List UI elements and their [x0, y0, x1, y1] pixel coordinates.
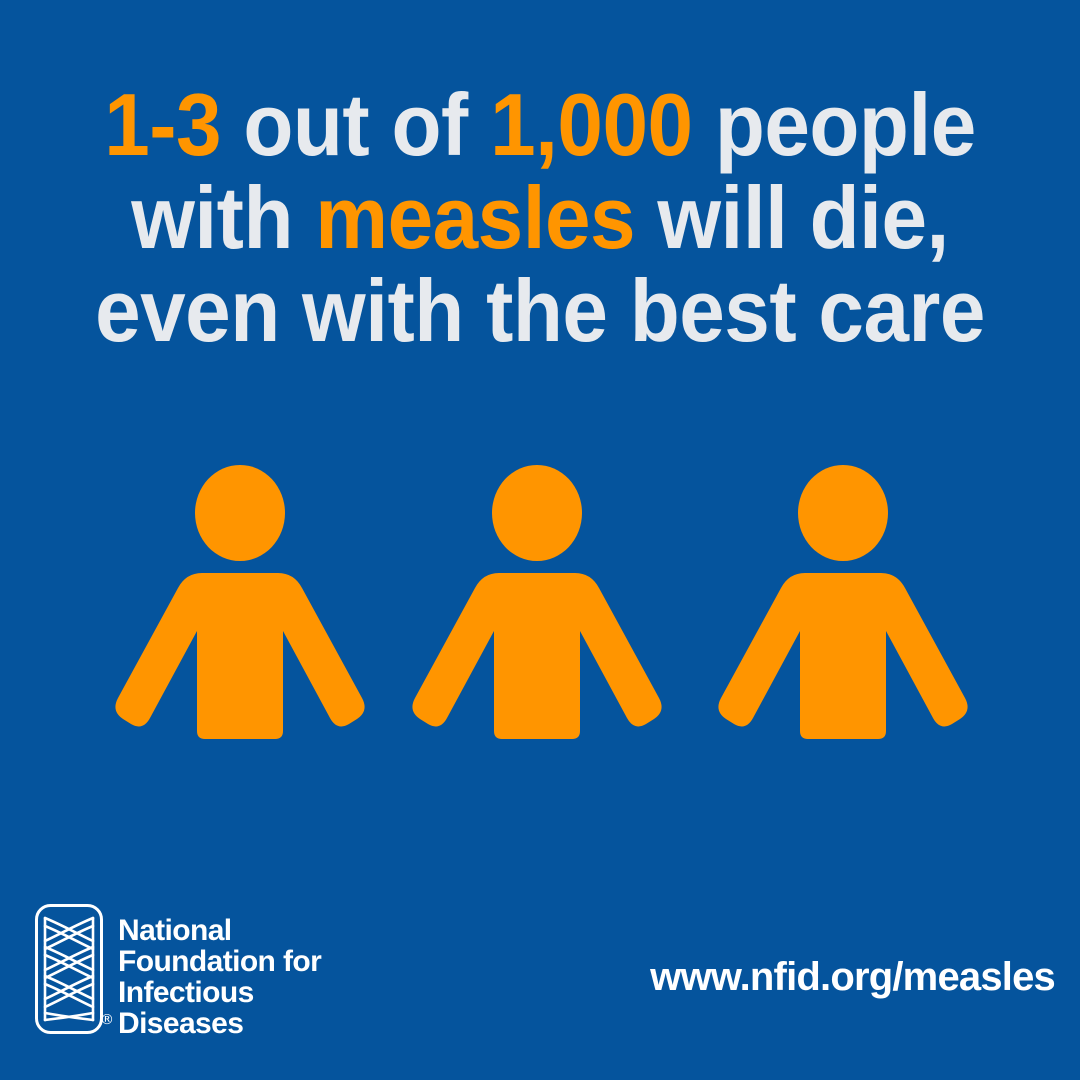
- headline: 1-3 out of 1,000 people with measles wil…: [38, 78, 1042, 357]
- nfid-logo[interactable]: ® National Foundation for Infectious Dis…: [34, 903, 324, 1043]
- headline-line-2-text-a: with: [131, 168, 315, 267]
- logo-line-3: Infectious: [118, 977, 321, 1008]
- registered-trademark-icon: ®: [100, 1013, 114, 1027]
- headline-line-2: with measles will die,: [38, 171, 1042, 264]
- headline-stat-ratio: 1-3: [104, 75, 221, 174]
- headline-stat-total: 1,000: [490, 75, 692, 174]
- headline-line-1-text-b: people: [693, 75, 976, 174]
- nfid-logo-text: National Foundation for Infectious Disea…: [118, 915, 321, 1039]
- person-figure-icon: [387, 455, 687, 755]
- people-illustration-group: [0, 455, 1080, 755]
- person-figure-icon: [90, 455, 390, 755]
- infographic-poster: 1-3 out of 1,000 people with measles wil…: [0, 0, 1080, 1080]
- headline-line-2-text-b: will die,: [635, 168, 949, 267]
- website-url-link[interactable]: www.nfid.org/measles: [650, 955, 1055, 999]
- headline-line-1: 1-3 out of 1,000 people: [38, 78, 1042, 171]
- dna-helix-icon: [34, 903, 104, 1035]
- person-figure-icon: [693, 455, 993, 755]
- headline-disease-name: measles: [315, 168, 635, 267]
- logo-line-1: National: [118, 915, 321, 946]
- logo-line-4: Diseases: [118, 1008, 321, 1039]
- headline-line-1-text-a: out of: [221, 75, 490, 174]
- headline-line-3: even with the best care: [38, 264, 1042, 357]
- logo-line-2: Foundation for: [118, 946, 321, 977]
